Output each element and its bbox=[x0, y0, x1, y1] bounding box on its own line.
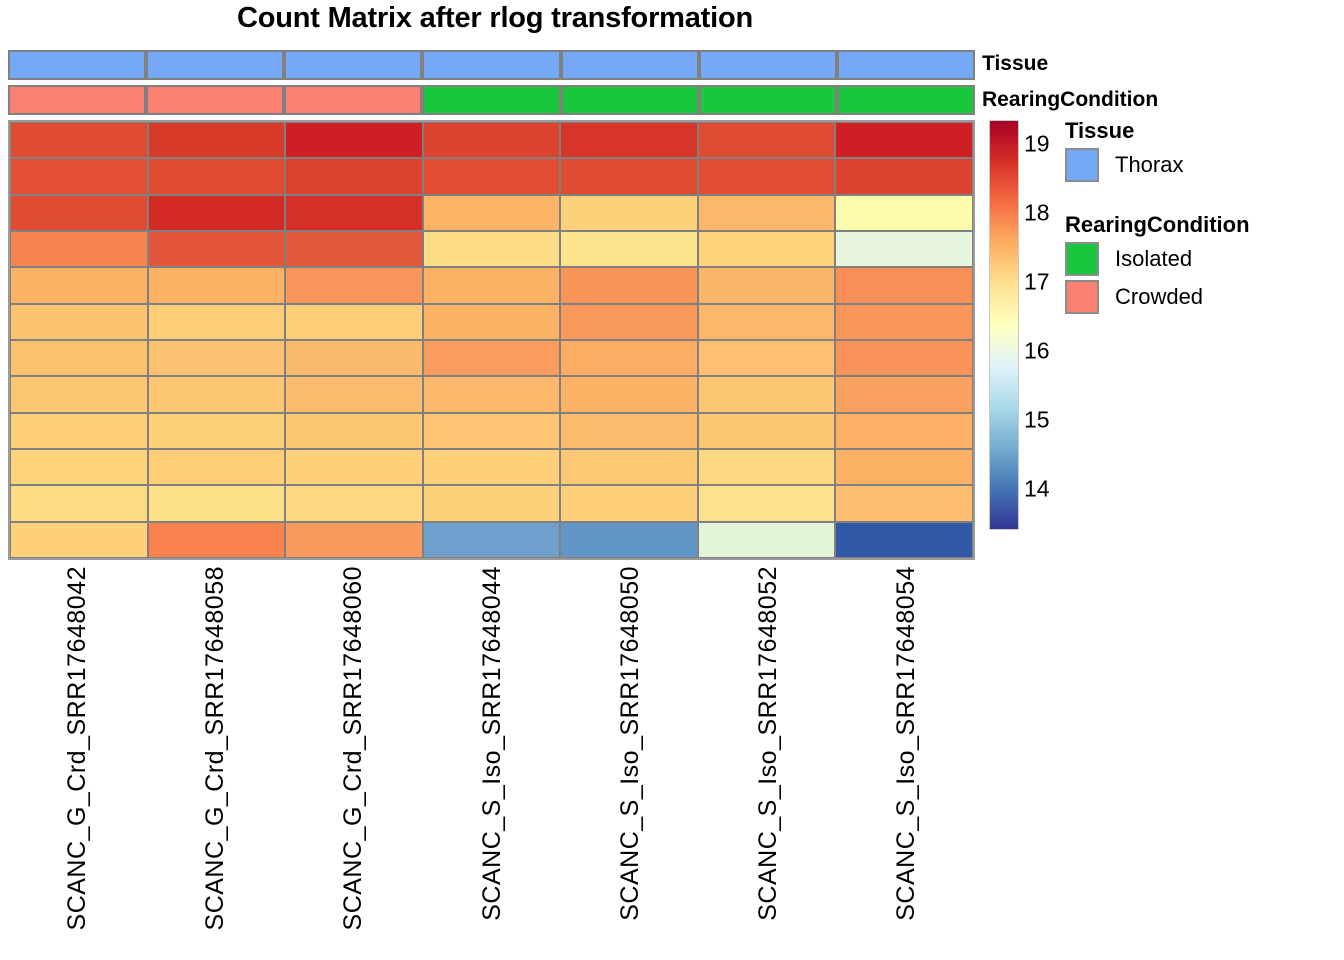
rearing-annotation-cell bbox=[699, 85, 837, 115]
colorbar-tick-label: 19 bbox=[1024, 131, 1050, 158]
heatmap-cell bbox=[698, 195, 836, 231]
heatmap-cell bbox=[835, 413, 973, 449]
heatmap-cell bbox=[148, 304, 286, 340]
heatmap-cell bbox=[560, 522, 698, 558]
heatmap-grid bbox=[10, 122, 973, 558]
rearing-annotation-cell bbox=[837, 85, 975, 115]
heatmap-cell bbox=[423, 304, 561, 340]
heatmap-cell bbox=[285, 195, 423, 231]
heatmap-cell bbox=[10, 304, 148, 340]
heatmap-cell bbox=[835, 376, 973, 412]
column-label: SCANC_G_Crd_SRR17648058 bbox=[201, 566, 230, 930]
heatmap-cell bbox=[835, 195, 973, 231]
heatmap-cell bbox=[148, 267, 286, 303]
legend-swatch bbox=[1065, 148, 1099, 182]
colorbar-tick-label: 16 bbox=[1024, 337, 1050, 364]
colorbar-gradient bbox=[989, 120, 1019, 530]
heatmap-cell bbox=[10, 158, 148, 194]
heatmap-cell bbox=[148, 195, 286, 231]
tissue-annotation-cell bbox=[8, 50, 146, 80]
heatmap-cell bbox=[285, 158, 423, 194]
tissue-annotation-cell bbox=[422, 50, 560, 80]
tissue-annotation-cell bbox=[561, 50, 699, 80]
tissue-annotation-cell bbox=[146, 50, 284, 80]
heatmap-cell bbox=[698, 158, 836, 194]
heatmap-cell bbox=[285, 485, 423, 521]
heatmap-cell bbox=[560, 304, 698, 340]
heatmap-figure: Count Matrix after rlog transformation T… bbox=[0, 0, 1344, 960]
heatmap-cell bbox=[560, 158, 698, 194]
heatmap-cell bbox=[285, 304, 423, 340]
heatmap-cell bbox=[285, 522, 423, 558]
heatmap-cell bbox=[560, 376, 698, 412]
heatmap-cell bbox=[10, 413, 148, 449]
legend-item-label: Crowded bbox=[1115, 284, 1203, 310]
heatmap-cell bbox=[560, 449, 698, 485]
heatmap-cell bbox=[148, 413, 286, 449]
heatmap-cell bbox=[423, 413, 561, 449]
heatmap-cell bbox=[835, 158, 973, 194]
heatmap-cell bbox=[423, 376, 561, 412]
rearing-annotation-cell bbox=[146, 85, 284, 115]
column-label: SCANC_G_Crd_SRR17648042 bbox=[63, 566, 92, 930]
heatmap-cell bbox=[698, 231, 836, 267]
column-label: SCANC_G_Crd_SRR17648060 bbox=[339, 566, 368, 930]
heatmap-cell bbox=[10, 340, 148, 376]
heatmap-cell bbox=[10, 485, 148, 521]
heatmap-cell bbox=[423, 195, 561, 231]
rearing-annotation-cell bbox=[284, 85, 422, 115]
heatmap-cell bbox=[698, 304, 836, 340]
colorbar-tick-label: 15 bbox=[1024, 406, 1050, 433]
heatmap-cell bbox=[10, 449, 148, 485]
heatmap-cell bbox=[423, 158, 561, 194]
legend-swatch bbox=[1065, 242, 1099, 276]
legend-title: Tissue bbox=[1065, 118, 1134, 144]
column-label: SCANC_S_Iso_SRR17648052 bbox=[754, 566, 783, 921]
heatmap-cell bbox=[10, 231, 148, 267]
heatmap-cell bbox=[698, 267, 836, 303]
tissue-annotation-label: Tissue bbox=[982, 52, 1048, 76]
rearing-condition-annotation-label: RearingCondition bbox=[982, 88, 1158, 112]
heatmap-body bbox=[8, 120, 975, 560]
legend-item-label: Isolated bbox=[1115, 246, 1192, 272]
legend-item[interactable]: Crowded bbox=[1065, 280, 1203, 314]
legend-title: RearingCondition bbox=[1065, 212, 1250, 238]
heatmap-cell bbox=[835, 449, 973, 485]
heatmap-cell bbox=[560, 485, 698, 521]
heatmap-cell bbox=[148, 340, 286, 376]
tissue-annotation-bar bbox=[8, 50, 975, 80]
legend-item[interactable]: Isolated bbox=[1065, 242, 1192, 276]
heatmap-cell bbox=[698, 485, 836, 521]
column-label: SCANC_S_Iso_SRR17648050 bbox=[616, 566, 645, 921]
heatmap-cell bbox=[10, 267, 148, 303]
colorbar-tick-label: 18 bbox=[1024, 200, 1050, 227]
heatmap-cell bbox=[698, 413, 836, 449]
column-labels: SCANC_G_Crd_SRR17648042SCANC_G_Crd_SRR17… bbox=[8, 566, 975, 960]
heatmap-cell bbox=[423, 485, 561, 521]
heatmap-cell bbox=[835, 231, 973, 267]
heatmap-cell bbox=[10, 376, 148, 412]
heatmap-cell bbox=[285, 122, 423, 158]
heatmap-cell bbox=[10, 522, 148, 558]
heatmap-cell bbox=[698, 376, 836, 412]
heatmap-cell bbox=[560, 122, 698, 158]
heatmap-cell bbox=[698, 522, 836, 558]
heatmap-cell bbox=[560, 340, 698, 376]
heatmap-cell bbox=[148, 158, 286, 194]
heatmap-cell bbox=[148, 449, 286, 485]
heatmap-cell bbox=[148, 122, 286, 158]
legend-item-label: Thorax bbox=[1115, 152, 1183, 178]
heatmap-cell bbox=[285, 413, 423, 449]
heatmap-cell bbox=[285, 376, 423, 412]
heatmap-cell bbox=[148, 522, 286, 558]
heatmap-cell bbox=[10, 195, 148, 231]
heatmap-cell bbox=[285, 267, 423, 303]
column-label: SCANC_S_Iso_SRR17648054 bbox=[892, 566, 921, 921]
heatmap-cell bbox=[835, 340, 973, 376]
heatmap-cell bbox=[560, 413, 698, 449]
heatmap-cell bbox=[423, 340, 561, 376]
heatmap-cell bbox=[835, 267, 973, 303]
figure-title: Count Matrix after rlog transformation bbox=[0, 2, 990, 35]
heatmap-cell bbox=[835, 485, 973, 521]
rearing-annotation-cell bbox=[8, 85, 146, 115]
heatmap-cell bbox=[148, 376, 286, 412]
heatmap-cell bbox=[835, 522, 973, 558]
heatmap-cell bbox=[698, 449, 836, 485]
legend-swatch bbox=[1065, 280, 1099, 314]
colorbar-tick-label: 17 bbox=[1024, 268, 1050, 295]
heatmap-cell bbox=[148, 485, 286, 521]
heatmap-cell bbox=[835, 304, 973, 340]
heatmap-cell bbox=[423, 122, 561, 158]
heatmap-cell bbox=[423, 449, 561, 485]
heatmap-cell bbox=[285, 340, 423, 376]
tissue-annotation-cell bbox=[699, 50, 837, 80]
heatmap-cell bbox=[148, 231, 286, 267]
heatmap-cell bbox=[698, 122, 836, 158]
heatmap-cell bbox=[560, 231, 698, 267]
rearing-annotation-cell bbox=[561, 85, 699, 115]
heatmap-cell bbox=[423, 267, 561, 303]
heatmap-cell bbox=[835, 122, 973, 158]
rearing-condition-annotation-bar bbox=[8, 85, 975, 115]
legend-item[interactable]: Thorax bbox=[1065, 148, 1183, 182]
heatmap-cell bbox=[423, 231, 561, 267]
heatmap-cell bbox=[10, 122, 148, 158]
rearing-annotation-cell bbox=[422, 85, 560, 115]
heatmap-cell bbox=[560, 267, 698, 303]
colorbar-tick-label: 14 bbox=[1024, 475, 1050, 502]
heatmap-cell bbox=[285, 449, 423, 485]
heatmap-cell bbox=[423, 522, 561, 558]
tissue-annotation-cell bbox=[284, 50, 422, 80]
heatmap-cell bbox=[560, 195, 698, 231]
heatmap-cell bbox=[698, 340, 836, 376]
tissue-annotation-cell bbox=[837, 50, 975, 80]
column-label: SCANC_S_Iso_SRR17648044 bbox=[478, 566, 507, 921]
heatmap-cell bbox=[285, 231, 423, 267]
